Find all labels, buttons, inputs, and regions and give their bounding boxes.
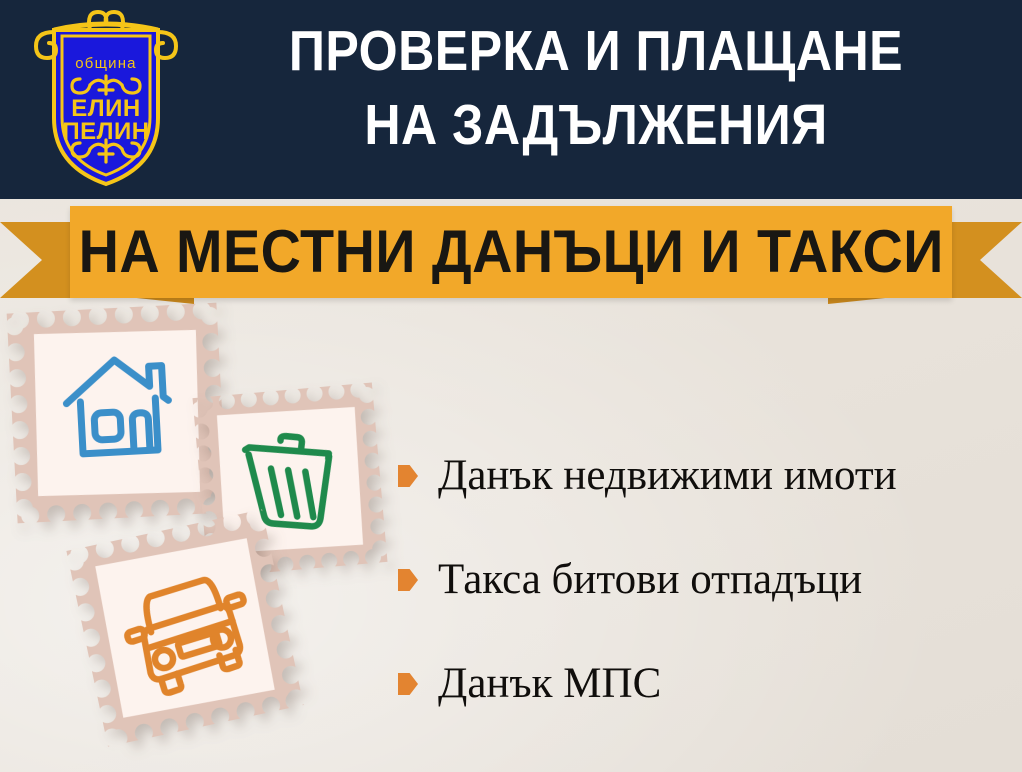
list-item-label: Данък МПС [438, 660, 661, 708]
municipality-crest: община ЕЛИН ПЕЛИН [26, 6, 186, 192]
crest-line-pelin: ПЕЛИН [62, 118, 149, 145]
ribbon-banner: НА МЕСТНИ ДАНЪЦИ И ТАКСИ [70, 206, 952, 298]
crest-line-small: община [75, 55, 136, 72]
subtitle-ribbon: НА МЕСТНИ ДАНЪЦИ И ТАКСИ [0, 196, 1022, 306]
coat-of-arms-shield-icon: община ЕЛИН ПЕЛИН [26, 6, 186, 192]
bullet-arrow-icon [398, 465, 418, 487]
stamp-vehicle [66, 509, 303, 746]
list-item[interactable]: Данък МПС [398, 632, 1010, 736]
stamp-collage [0, 300, 420, 772]
list-item[interactable]: Данък недвижими имоти [398, 424, 1010, 528]
page-title-line-1: ПРОВЕРКА И ПЛАЩАНЕ [239, 14, 954, 88]
list-item[interactable]: Такса битови отпадъци [398, 528, 1010, 632]
bullet-arrow-icon [398, 673, 418, 695]
page-title: ПРОВЕРКА И ПЛАЩАНЕ НА ЗАДЪЛЖЕНИЯ [190, 14, 1002, 162]
stamp-vehicle-graphic [66, 509, 303, 746]
list-item-label: Данък недвижими имоти [438, 452, 897, 500]
poster-canvas: община ЕЛИН ПЕЛИН ПРОВЕРКА И ПЛАЩАНЕ НА … [0, 0, 1022, 772]
list-item-label: Такса битови отпадъци [438, 556, 862, 604]
bullet-arrow-icon [398, 569, 418, 591]
page-title-line-2: НА ЗАДЪЛЖЕНИЯ [239, 88, 954, 162]
ribbon-label: НА МЕСТНИ ДАНЪЦИ И ТАКСИ [78, 222, 943, 282]
header-band: община ЕЛИН ПЕЛИН ПРОВЕРКА И ПЛАЩАНЕ НА … [0, 0, 1022, 199]
tax-type-list: Данък недвижими имоти Такса битови отпад… [398, 424, 1010, 736]
